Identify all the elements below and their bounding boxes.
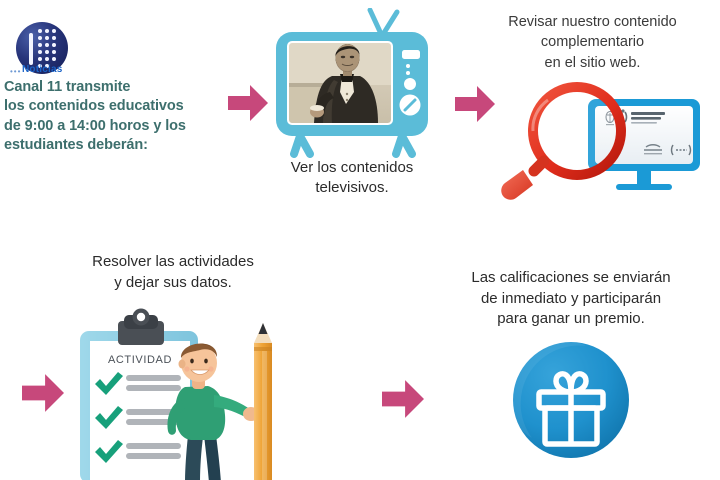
prize-caption: Las calificaciones se enviarán de inmedi…	[436, 268, 706, 330]
prize-panel: Las calificaciones se enviarán de inmedi…	[436, 268, 706, 462]
logo-dots: •••	[10, 67, 21, 76]
arrow-to-prize	[382, 380, 424, 418]
magnifying-glass-over-monitor-icon	[470, 81, 715, 201]
clipboard-title: ACTIVIDAD	[108, 354, 172, 366]
tv-caption: Ver los contenidos televisivos.	[254, 158, 450, 199]
pencil-icon	[254, 323, 272, 480]
activity-panel: Resolver las actividades y dejar sus dat…	[48, 252, 298, 480]
intro-panel: ••• Noticias Canal 11 transmite los cont…	[4, 22, 224, 155]
clipboard-with-student-icon: ACTIVIDAD	[48, 303, 298, 480]
tv-panel: Ver los contenidos televisivos.	[262, 8, 442, 158]
web-caption: Revisar nuestro contenido complementario…	[470, 12, 715, 73]
activity-caption: Resolver las actividades y dejar sus dat…	[48, 252, 298, 293]
magnifier-graphic	[501, 87, 621, 200]
globe-grid-pattern	[29, 27, 55, 69]
intro-text: Canal 11 transmite los contenidos educat…	[4, 78, 224, 155]
canal-once-logo: ••• Noticias	[16, 22, 88, 72]
web-panel: Revisar nuestro contenido complementario…	[470, 12, 715, 201]
infographic-canvas: ••• Noticias Canal 11 transmite los cont…	[0, 0, 720, 480]
logo-wordmark: Noticias	[22, 64, 63, 75]
gift-box-icon	[436, 342, 706, 462]
television-icon	[262, 8, 442, 158]
